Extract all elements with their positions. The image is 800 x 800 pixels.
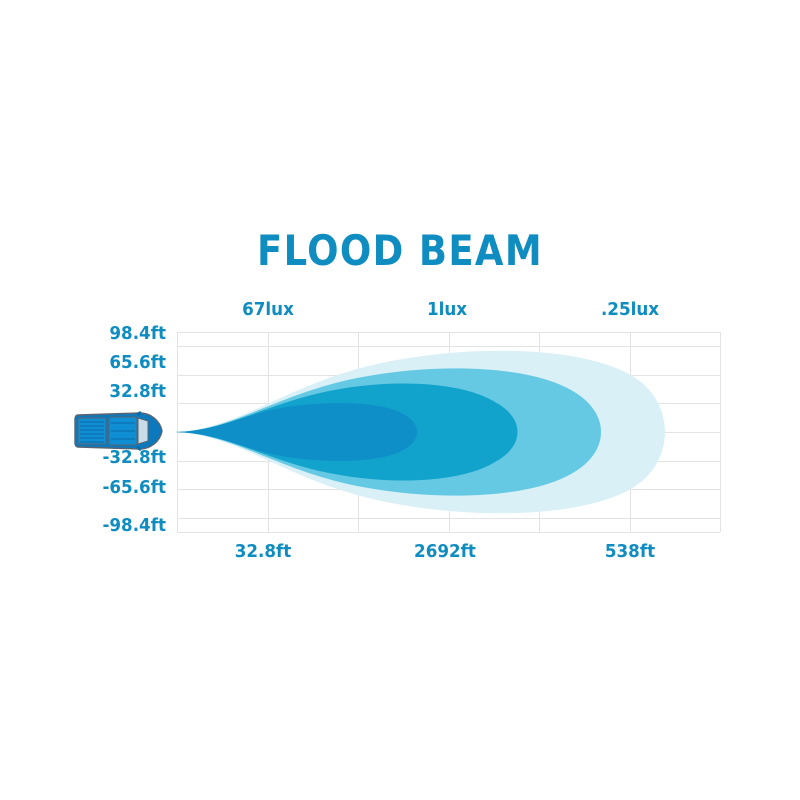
grid-lines <box>177 332 720 532</box>
bottom-label-32-8ft: 32.8ft <box>198 542 328 562</box>
bottom-label-538ft: 538ft <box>565 542 695 562</box>
pickup-truck-top-view-icon <box>74 408 166 454</box>
top-label-025lux: .25lux <box>565 300 695 320</box>
y-label-65-6ft: 65.6ft <box>92 353 166 373</box>
y-label-32-8ft: 32.8ft <box>92 382 166 402</box>
y-label-98-4ft: 98.4ft <box>92 324 166 344</box>
y-label-neg-65-6ft: -65.6ft <box>92 478 166 498</box>
y-label-neg-98-4ft: -98.4ft <box>92 516 166 536</box>
page-title: FLOOD BEAM <box>48 228 752 274</box>
top-label-67lux: 67lux <box>203 300 333 320</box>
top-label-1lux: 1lux <box>382 300 512 320</box>
plot-area <box>177 332 720 532</box>
bottom-label-2692ft: 2692ft <box>380 542 510 562</box>
flood-beam-diagram: FLOOD BEAM 67lux 1lux .25lux 98.4ft 65.6… <box>0 0 800 800</box>
